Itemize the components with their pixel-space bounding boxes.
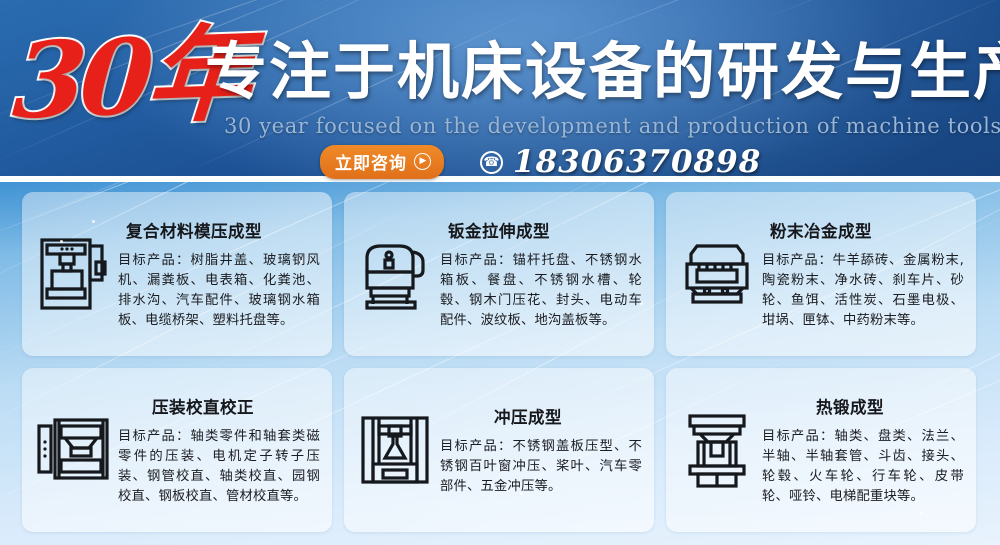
consult-now-label: 立即咨询 [335,149,407,174]
capability-card-title: 钣金拉伸成型 [448,218,642,242]
capability-card[interactable]: 粉末冶金成型目标产品：牛羊舔砖、金属粉末,陶瓷粉末、净水砖、刹车片、砂轮、鱼饵、… [666,192,976,356]
stamping-press-icon [356,414,434,486]
capability-card-body: 冲压成型目标产品：不锈钢盖板压型、不锈钢百叶窗冲压、桨叶、汽车零部件、五金冲压等… [434,404,644,497]
sparkle-dot [640,302,643,305]
capability-card[interactable]: 冲压成型目标产品：不锈钢盖板压型、不锈钢百叶窗冲压、桨叶、汽车零部件、五金冲压等… [344,368,654,532]
capability-card-description: 目标产品：锚杆托盘、不锈钢水箱板、餐盘、不锈钢水槽、轮毂、钢木门压花、封头、电动… [440,251,642,331]
sparkle-dot [812,482,815,485]
years-badge: 30年 [10,19,219,144]
sparkle-dot [176,432,179,435]
straightening-press-icon [34,416,112,484]
sparkle-dot [60,240,63,243]
banner-content: 复合材料模压成型目标产品：树脂井盖、玻璃钢风机、漏粪板、电表箱、化粪池、排水沟、… [0,182,1000,545]
capability-card-description: 目标产品：轴类、盘类、法兰、半轴、半轴套管、斗齿、接头、轮毂、火车轮、行车轮、皮… [762,427,964,507]
sparkle-dot [92,220,95,223]
sheet-metal-drawing-press-icon [356,238,434,310]
powder-metallurgy-press-icon [678,238,756,310]
capability-card-body: 钣金拉伸成型目标产品：锚杆托盘、不锈钢水箱板、餐盘、不锈钢水槽、轮毂、钢木门压花… [434,218,644,331]
capability-card[interactable]: 热锻成型目标产品：轴类、盘类、法兰、半轴、半轴套管、斗齿、接头、轮毂、火车轮、行… [666,368,976,532]
header-actions: 立即咨询 ▶ ☎ 18306370898 [320,144,761,180]
capability-card-grid: 复合材料模压成型目标产品：树脂井盖、玻璃钢风机、漏粪板、电表箱、化粪池、排水沟、… [22,192,978,532]
phone-contact[interactable]: ☎ 18306370898 [480,144,761,180]
capability-card-title: 粉末冶金成型 [770,218,964,242]
capability-card-body: 粉末冶金成型目标产品：牛羊舔砖、金属粉末,陶瓷粉末、净水砖、刹车片、砂轮、鱼饵、… [756,218,966,331]
capability-card-title: 冲压成型 [494,404,642,428]
page-title: 专注于机床设备的研发与生产 [205,36,1000,108]
sparkle-dot [300,260,303,263]
capability-card-description: 目标产品：牛羊舔砖、金属粉末,陶瓷粉末、净水砖、刹车片、砂轮、鱼饵、活性炭、石墨… [762,251,964,331]
capability-card-description: 目标产品：树脂井盖、玻璃钢风机、漏粪板、电表箱、化粪池、排水沟、汽车配件、玻璃钢… [118,251,320,331]
sparkle-dot [520,492,523,495]
phone-icon: ☎ [480,151,503,174]
capability-card-body: 复合材料模压成型目标产品：树脂井盖、玻璃钢风机、漏粪板、电表箱、化粪池、排水沟、… [112,218,322,331]
capability-card-title: 热锻成型 [816,394,964,418]
capability-card[interactable]: 钣金拉伸成型目标产品：锚杆托盘、不锈钢水箱板、餐盘、不锈钢水槽、轮毂、钢木门压花… [344,192,654,356]
consult-now-button[interactable]: 立即咨询 ▶ [320,145,444,179]
capability-card[interactable]: 复合材料模压成型目标产品：树脂井盖、玻璃钢风机、漏粪板、电表箱、化粪池、排水沟、… [22,192,332,356]
capability-card[interactable]: 压装校直校正目标产品：轴类零件和轴套类磁零件的压装、电机定子转子压装、钢管校直、… [22,368,332,532]
capability-card-description: 目标产品：不锈钢盖板压型、不锈钢百叶窗冲压、桨叶、汽车零部件、五金冲压等。 [440,437,642,497]
promo-banner: 30年 专注于机床设备的研发与生产 30 year focused on the… [0,0,1000,545]
capability-card-body: 压装校直校正目标产品：轴类零件和轴套类磁零件的压装、电机定子转子压装、钢管校直、… [112,394,322,507]
sparkle-dot [920,512,923,515]
page-subtitle: 30 year focused on the development and p… [224,114,1000,138]
molding-press-machine-icon [34,236,112,312]
capability-card-description: 目标产品：轴类零件和轴套类磁零件的压装、电机定子转子压装、钢管校直、轴类校直、园… [118,427,320,507]
play-arrow-icon: ▶ [414,153,431,170]
phone-number: 18306370898 [513,144,761,180]
capability-card-title: 复合材料模压成型 [126,218,320,242]
capability-card-title: 压装校直校正 [152,394,320,418]
hot-forging-press-icon [678,412,756,488]
capability-card-body: 热锻成型目标产品：轴类、盘类、法兰、半轴、半轴套管、斗齿、接头、轮毂、火车轮、行… [756,394,966,507]
